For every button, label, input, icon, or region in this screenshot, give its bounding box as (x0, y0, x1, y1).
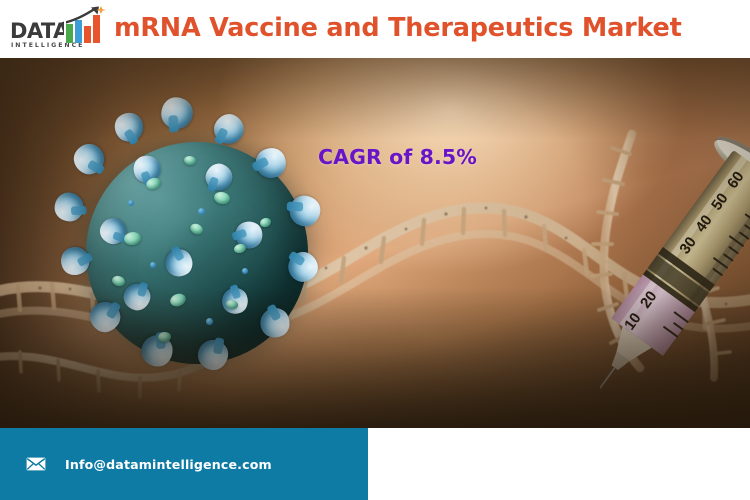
hero-vignette (0, 58, 750, 428)
envelope-icon (26, 457, 46, 471)
logo-divider (64, 9, 66, 43)
poster-footer: Info@datamintelligence.com (0, 428, 750, 500)
logo-bar-orange-short (84, 26, 91, 43)
logo-growth-arrow-icon (62, 6, 110, 24)
page-title: mRNA Vaccine and Therapeutics Market (114, 16, 682, 42)
logo-bar-green (66, 24, 73, 43)
contact-email[interactable]: Info@datamintelligence.com (65, 457, 272, 472)
logo-wordmark: DATA (10, 21, 69, 42)
poster-header: DATA INTELLIGENCE mRNA Vaccine and Thera… (0, 0, 750, 58)
market-report-poster: DATA INTELLIGENCE mRNA Vaccine and Thera… (0, 0, 750, 500)
brand-logo[interactable]: DATA INTELLIGENCE (4, 1, 108, 57)
cagr-label: CAGR of 8.5% (318, 145, 477, 169)
logo-subtitle: INTELLIGENCE (11, 43, 84, 49)
hero-image: 60 50 40 30 20 10 CAGR of 8.5% (0, 58, 750, 428)
contact-band: Info@datamintelligence.com (0, 428, 368, 500)
